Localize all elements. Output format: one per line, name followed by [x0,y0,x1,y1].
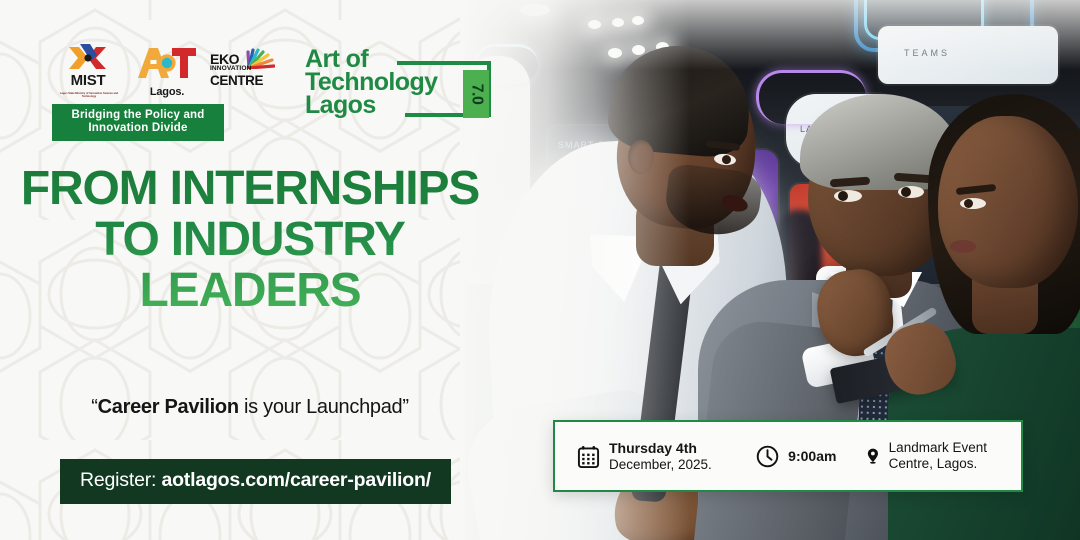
partnership-tagline: Bridging the Policy and Innovation Divid… [52,104,224,141]
calendar-icon [577,445,600,468]
subtitle-bold: Career Pavilion [98,396,239,418]
location-pin-icon [866,443,880,469]
partner-logos: MIST Lagos State Ministry of Innovation … [52,44,274,141]
lockup-rule-top [397,61,491,65]
event-date-text: Thursday 4th December, 2025. [609,440,712,473]
event-location: Landmark Event Centre, Lagos. [866,440,1003,472]
subtitle-close-quote: ” [402,396,408,418]
event-lockup-text: Art of Technology Lagos [305,48,437,117]
mist-logo-icon [66,44,110,72]
version-badge-text: 7.0 [467,84,485,105]
event-date-day: Thursday 4th [609,440,697,456]
register-url[interactable]: aotlagos.com/career-pavilion/ [161,469,430,491]
clock-icon [756,445,779,468]
event-lockup: Art of Technology Lagos 7.0 [305,48,495,128]
version-badge: 7.0 [463,70,489,118]
eko-line-1: EKO [210,52,239,66]
event-time-text: 9:00am [788,448,836,465]
mist-subtitle: Lagos State Ministry of Innovation Scien… [54,92,124,98]
subtitle-rest: is your Launchpad [239,396,403,418]
event-time: 9:00am [756,445,866,468]
event-banner: SMART GATE INNOVATE LAGOS FUTURE TECH LA… [0,0,1080,540]
register-label: Register: [80,469,161,491]
logo-aot: Lagos. [136,46,198,98]
aot-logo-icon [136,46,198,80]
aot-wordmark: Lagos. [136,86,198,98]
subtitle: “Career Pavilion is your Launchpad” [0,396,500,419]
event-location-text: Landmark Event Centre, Lagos. [889,440,1003,472]
page-title: FROM INTERNSHIPS TO INDUSTRY LEADERS [0,164,500,317]
eko-line-2: INNOVATION [210,66,251,73]
logo-eko: EKO INNOVATION CENTRE [210,44,274,98]
event-date: Thursday 4th December, 2025. [577,440,756,473]
logo-row: MIST Lagos State Ministry of Innovation … [52,44,274,98]
logo-mist: MIST Lagos State Ministry of Innovation … [52,44,124,98]
register-cta[interactable]: Register: aotlagos.com/career-pavilion/ [60,459,451,504]
event-details-bar: Thursday 4th December, 2025. 9:00am Land… [553,420,1023,492]
eko-line-3: CENTRE [210,74,263,88]
event-date-month-year: December, 2025. [609,457,712,472]
event-time-value: 9:00am [788,448,836,464]
mist-wordmark: MIST [52,73,124,88]
